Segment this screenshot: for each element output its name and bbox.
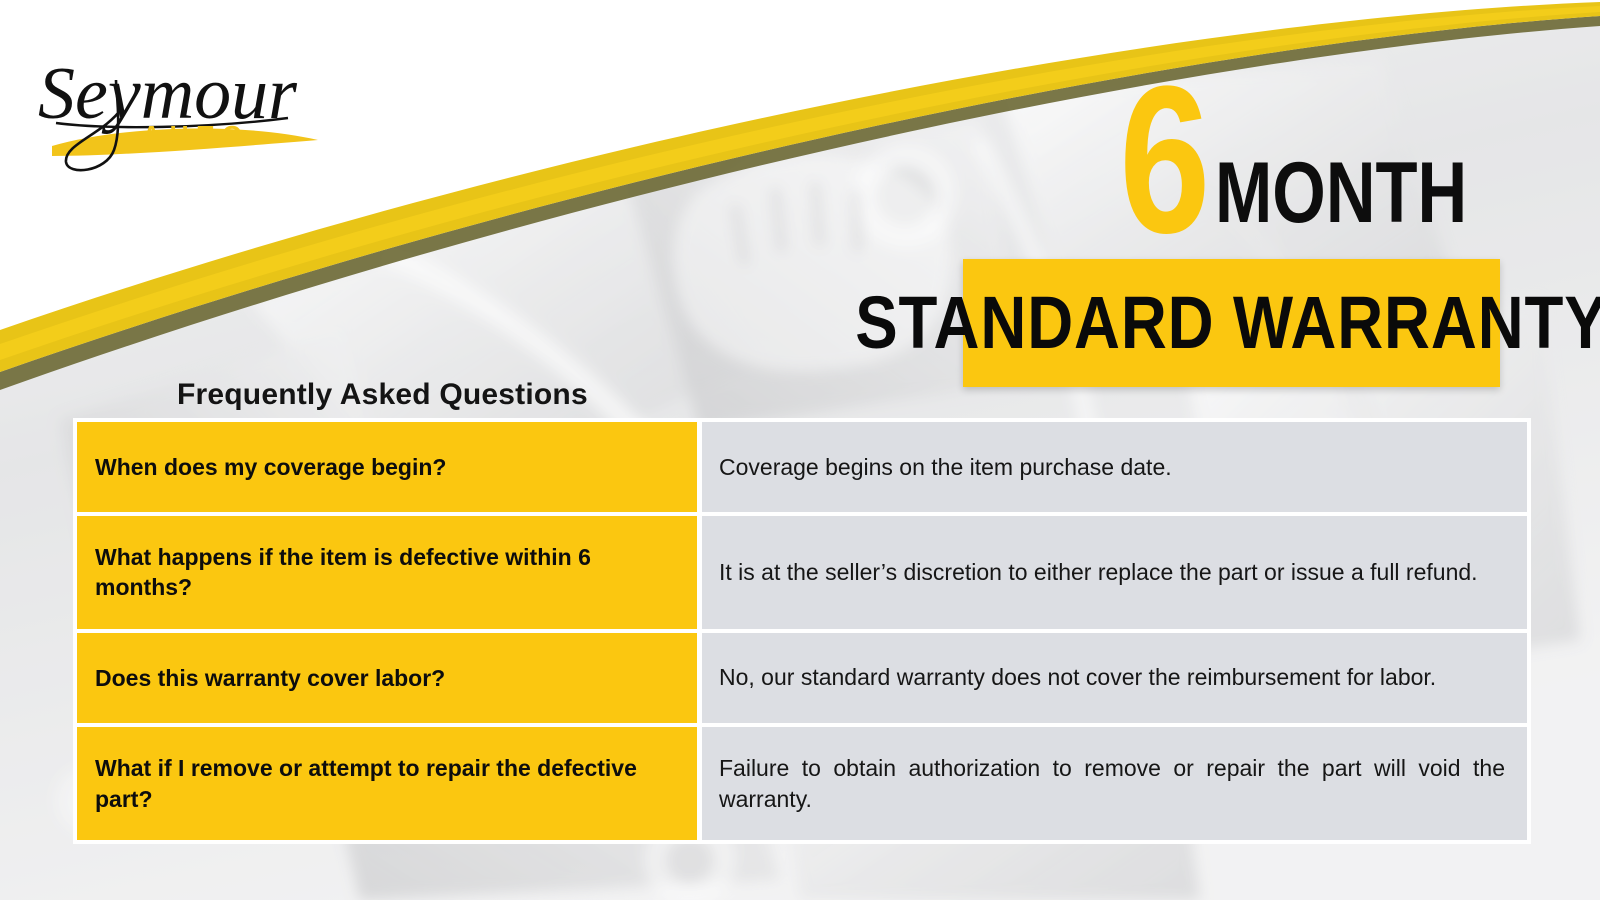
faq-question-text: When does my coverage begin? [95,452,446,482]
faq-answer-cell: Coverage begins on the item purchase dat… [702,422,1527,512]
faq-answer-text: Failure to obtain authorization to remov… [719,753,1505,815]
seymour-auto-logo: Seymour AUTO [30,22,330,172]
faq-answer-text: Coverage begins on the item purchase dat… [719,452,1505,483]
warranty-slide: Seymour AUTO 6 MONTH STANDARD WARRANTY F… [0,0,1600,900]
faq-table: When does my coverage begin? Coverage be… [73,418,1531,844]
faq-question-cell: Does this warranty cover labor? [77,633,697,723]
warranty-duration-headline: 6 MONTH [1094,78,1530,242]
logo-sub-word: AUTO [142,120,251,150]
faq-question-cell: What happens if the item is defective wi… [77,516,697,629]
table-row: Does this warranty cover labor? No, our … [77,633,1527,723]
duration-number: 6 [1119,78,1209,242]
faq-answer-text: It is at the seller’s discretion to eith… [719,557,1505,588]
table-row: When does my coverage begin? Coverage be… [77,422,1527,512]
faq-answer-text: No, our standard warranty does not cover… [719,662,1505,693]
faq-answer-cell: No, our standard warranty does not cover… [702,633,1527,723]
faq-heading: Frequently Asked Questions [177,378,588,412]
faq-answer-cell: It is at the seller’s discretion to eith… [702,516,1527,629]
standard-warranty-banner: STANDARD WARRANTY [963,259,1500,387]
warranty-banner-title: STANDARD WARRANTY [855,286,1600,360]
faq-question-text: Does this warranty cover labor? [95,663,445,693]
faq-question-text: What if I remove or attempt to repair th… [95,753,679,814]
duration-unit: MONTH [1215,157,1467,230]
table-row: What if I remove or attempt to repair th… [77,727,1527,841]
faq-answer-cell: Failure to obtain authorization to remov… [702,727,1527,841]
faq-question-cell: When does my coverage begin? [77,422,697,512]
faq-question-cell: What if I remove or attempt to repair th… [77,727,697,841]
faq-question-text: What happens if the item is defective wi… [95,542,679,603]
table-row: What happens if the item is defective wi… [77,516,1527,629]
